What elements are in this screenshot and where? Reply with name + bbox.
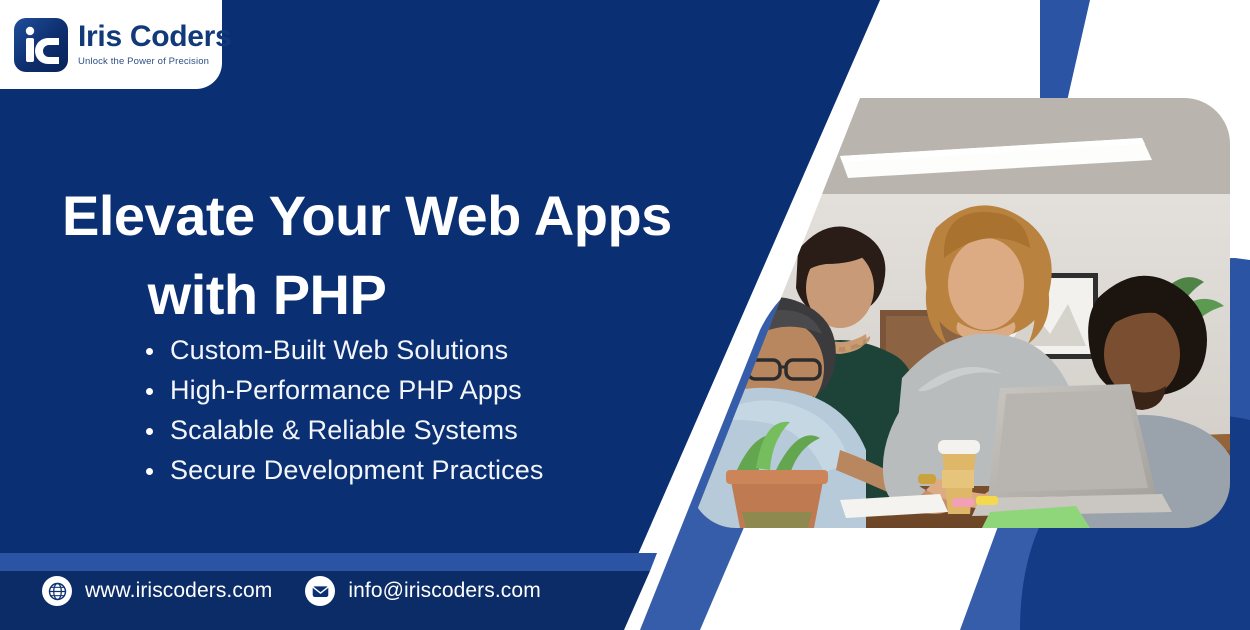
list-item: Secure Development Practices xyxy=(138,450,543,490)
email-label: info@iriscoders.com xyxy=(348,579,540,603)
ic-monogram-icon xyxy=(14,18,68,72)
envelope-icon xyxy=(305,576,335,606)
brand-tagline: Unlock the Power of Precision xyxy=(78,56,231,67)
website-label: www.iriscoders.com xyxy=(85,579,272,603)
brand-name: Iris Coders xyxy=(78,22,231,52)
contact-email[interactable]: info@iriscoders.com xyxy=(305,576,540,606)
brand-logo[interactable]: Iris Coders Unlock the Power of Precisio… xyxy=(0,0,222,89)
footer-separator-band xyxy=(0,553,657,571)
promo-banner: Iris Coders Unlock the Power of Precisio… xyxy=(0,0,1250,630)
page-title: Elevate Your Web Apps with PHP xyxy=(62,176,682,335)
contact-bar: www.iriscoders.com info@iriscoders.com xyxy=(42,576,541,606)
headline-line-1: Elevate Your Web Apps xyxy=(62,176,682,256)
feature-list: Custom-Built Web Solutions High-Performa… xyxy=(138,330,543,490)
globe-icon xyxy=(42,576,72,606)
contact-website[interactable]: www.iriscoders.com xyxy=(42,576,272,606)
list-item: High-Performance PHP Apps xyxy=(138,370,543,410)
list-item: Custom-Built Web Solutions xyxy=(138,330,543,370)
headline-line-2: with PHP xyxy=(62,255,682,335)
list-item: Scalable & Reliable Systems xyxy=(138,410,543,450)
